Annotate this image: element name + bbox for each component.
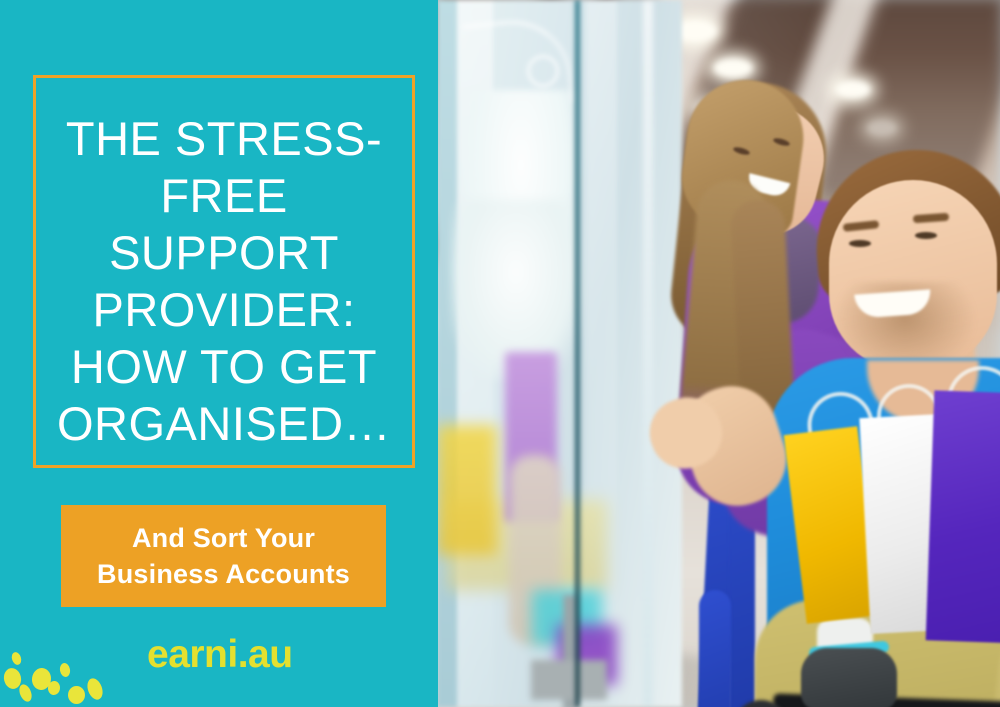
man-sneaker xyxy=(801,648,897,707)
window-reflection-yellow xyxy=(437,425,497,555)
shop-window xyxy=(437,0,682,707)
decorative-dot xyxy=(47,680,60,695)
decorative-dot xyxy=(17,683,34,704)
decorative-dot xyxy=(85,676,106,701)
wheelchair-wheel xyxy=(699,590,731,707)
glass-edge xyxy=(575,0,580,707)
brand-logo[interactable]: earni.au xyxy=(147,633,293,677)
man-eye xyxy=(849,240,871,247)
shopping-bag-purple xyxy=(926,390,1000,643)
decorative-dot xyxy=(10,651,23,666)
text-panel: THE STRESS- FREE SUPPORT PROVIDER: HOW T… xyxy=(0,0,438,707)
ceiling-light xyxy=(835,80,871,99)
hero-photo xyxy=(437,0,1000,707)
promo-graphic: THE STRESS- FREE SUPPORT PROVIDER: HOW T… xyxy=(0,0,1000,707)
ceiling-light xyxy=(867,120,897,136)
headline-box: THE STRESS- FREE SUPPORT PROVIDER: HOW T… xyxy=(33,75,415,468)
display-hanger-scroll-icon xyxy=(527,55,559,87)
cta-label: And Sort Your Business Accounts xyxy=(97,520,350,592)
window-frame xyxy=(643,0,653,707)
decorative-dot xyxy=(59,662,71,678)
man-eye xyxy=(915,232,937,239)
ceiling-light xyxy=(713,58,753,78)
cta-banner[interactable]: And Sort Your Business Accounts xyxy=(61,505,386,607)
page-title: THE STRESS- FREE SUPPORT PROVIDER: HOW T… xyxy=(36,110,412,452)
glass-post-base xyxy=(531,660,607,700)
decorative-dot xyxy=(68,686,85,704)
